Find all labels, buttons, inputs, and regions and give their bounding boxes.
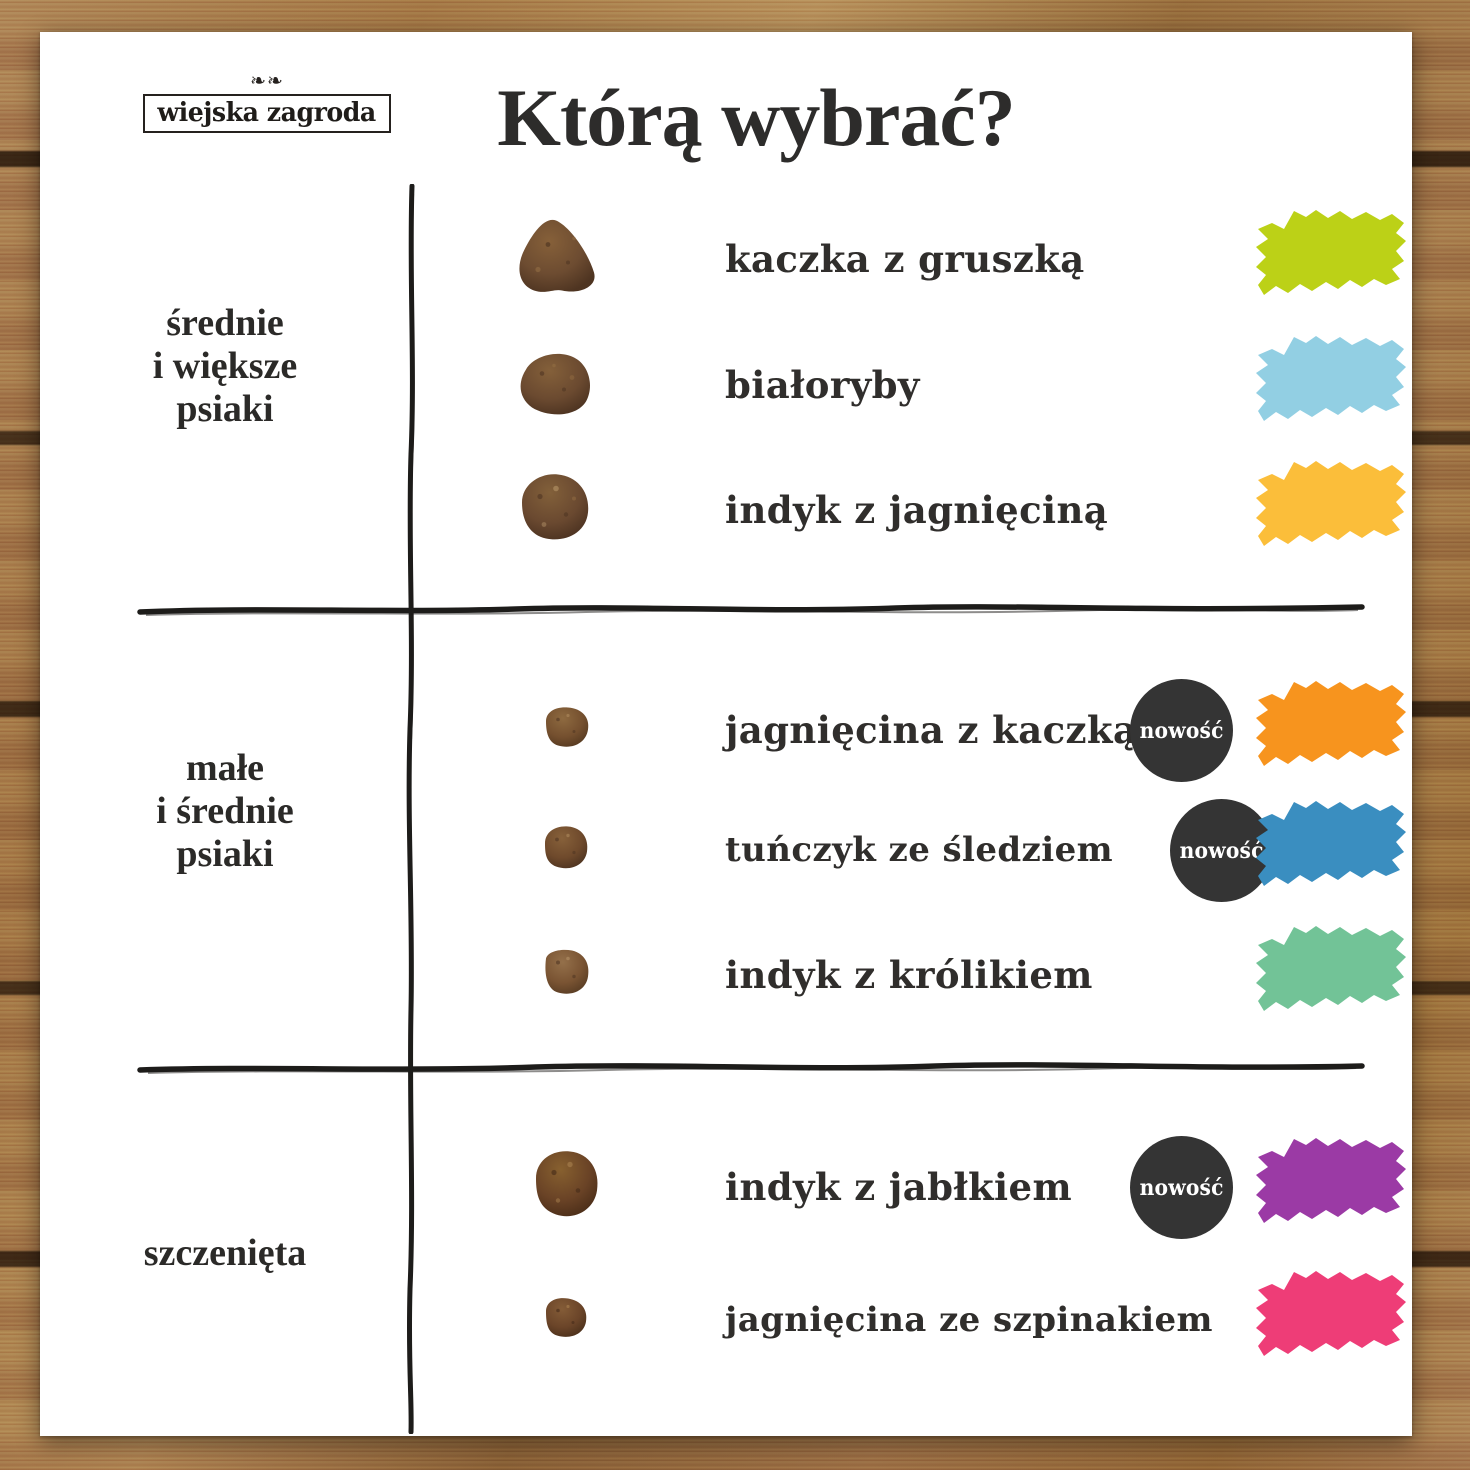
horizontal-divider-1	[136, 594, 1366, 624]
color-swatch	[1250, 207, 1410, 311]
kibble-icon	[526, 1145, 606, 1230]
product-name: kaczka z gruszką	[725, 239, 1085, 279]
vertical-divider	[392, 184, 432, 1434]
horizontal-divider-2	[136, 1054, 1366, 1084]
infographic-sheet: ❧❧ wiejska zagroda Którą wybrać? średnie…	[40, 32, 1412, 1436]
color-swatch	[1250, 1135, 1410, 1239]
new-badge-label: nowość	[1140, 718, 1224, 744]
group-label-0: średnie i większe psiaki	[70, 302, 380, 431]
group-label-line: średnie	[70, 302, 380, 345]
kibble-icon	[510, 215, 602, 304]
product-name: indyk z królikiem	[725, 955, 1093, 995]
group-label-1: małe i średnie psiaki	[70, 747, 380, 876]
new-badge-label: nowość	[1140, 1175, 1224, 1201]
group-label-line: psiaki	[70, 833, 380, 876]
product-name: jagnięcina ze szpinakiem	[725, 1300, 1213, 1340]
product-name: indyk z jagnięciną	[725, 490, 1108, 530]
page-title: Którą wybrać?	[40, 70, 1412, 166]
group-label-2: szczenięta	[70, 1232, 380, 1275]
kibble-icon	[510, 469, 596, 552]
product-row[interactable]: kaczka z gruszką	[510, 209, 1410, 309]
group-label-line: małe	[70, 747, 380, 790]
product-name: indyk z jabłkiem	[725, 1167, 1072, 1207]
product-name: jagnięcina z kaczką	[725, 710, 1137, 750]
product-row[interactable]: indyk z królikiem	[510, 925, 1410, 1025]
group-label-line: i średnie	[70, 790, 380, 833]
color-swatch	[1250, 678, 1410, 782]
product-row[interactable]: tuńczyk ze śledziem nowość	[510, 800, 1410, 900]
product-row[interactable]: białoryby	[510, 335, 1410, 435]
kibble-icon	[538, 704, 594, 757]
group-label-line: psiaki	[70, 388, 380, 431]
kibble-icon	[536, 945, 596, 1006]
color-swatch	[1250, 458, 1410, 562]
color-swatch	[1250, 923, 1410, 1027]
new-badge: nowość	[1130, 1136, 1233, 1239]
new-badge: nowość	[1130, 679, 1233, 782]
product-row[interactable]: jagnięcina z kaczką nowość	[510, 680, 1410, 780]
color-swatch	[1250, 333, 1410, 437]
kibble-icon	[538, 1294, 594, 1347]
kibble-icon	[510, 348, 596, 423]
wooden-background: ❧❧ wiejska zagroda Którą wybrać? średnie…	[0, 0, 1470, 1470]
color-swatch	[1250, 1268, 1410, 1372]
kibble-icon	[538, 822, 594, 879]
color-swatch	[1250, 798, 1410, 902]
group-label-line: szczenięta	[70, 1232, 380, 1275]
product-row[interactable]: indyk z jagnięciną	[510, 460, 1410, 560]
product-row[interactable]: jagnięcina ze szpinakiem	[510, 1270, 1410, 1370]
group-label-line: i większe	[70, 345, 380, 388]
product-row[interactable]: indyk z jabłkiem nowość	[510, 1137, 1410, 1237]
product-name: białoryby	[725, 365, 920, 405]
product-name: tuńczyk ze śledziem	[725, 830, 1113, 870]
